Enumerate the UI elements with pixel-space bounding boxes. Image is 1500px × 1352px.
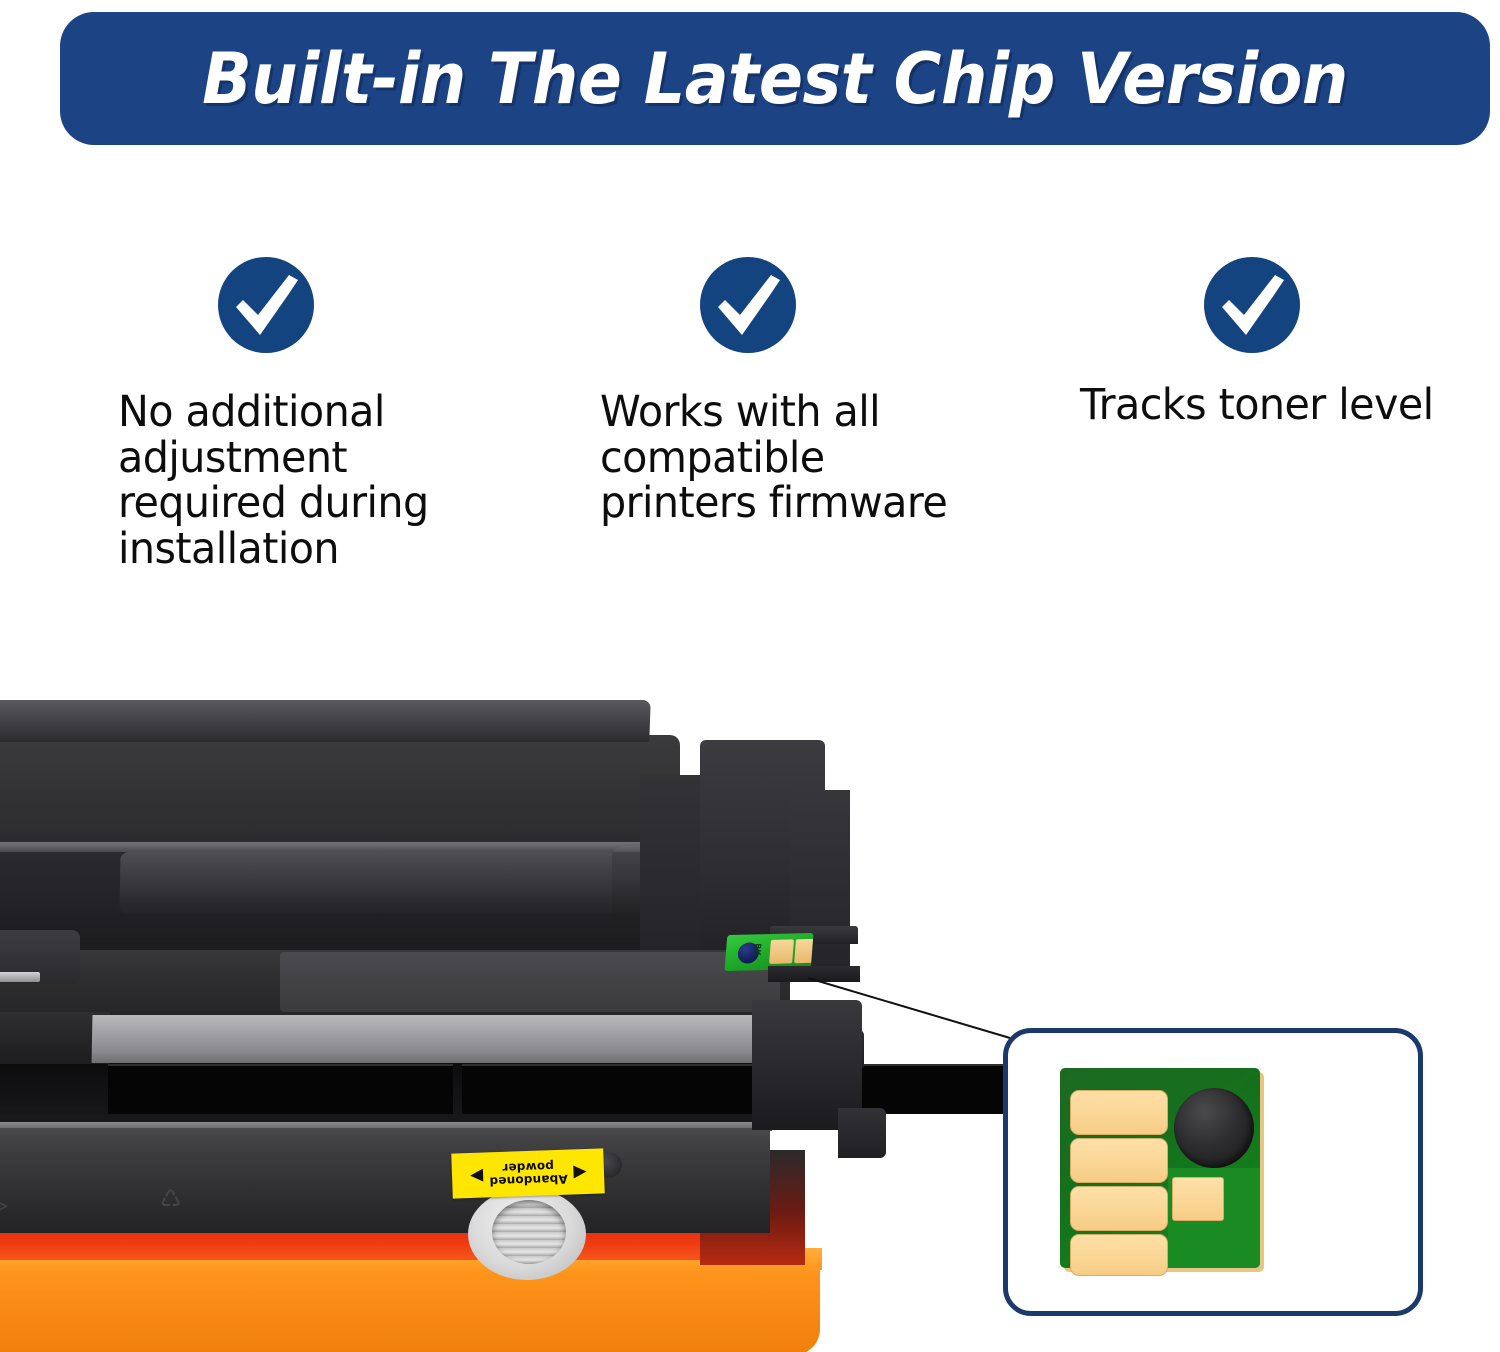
- cartridge-drum-roller: [119, 852, 680, 914]
- recycle-mark-icon: ♺: [160, 1185, 182, 1213]
- feature-item-no-adjustment: No additional adjustment required during…: [118, 255, 518, 572]
- toner-fill-port-thread: [492, 1200, 566, 1264]
- chip-closeup-contact-pad: [1070, 1138, 1168, 1183]
- header-banner: Built-in The Latest Chip Version: [60, 12, 1490, 145]
- infographic-canvas: Built-in The Latest Chip Version No addi…: [0, 0, 1500, 1352]
- check-circle-icon: [1202, 255, 1302, 355]
- abandoned-powder-label: ◀ Abandoned powder ▶: [451, 1148, 604, 1198]
- chip-closeup-contact-pad: [1070, 1090, 1168, 1135]
- feature-item-label: No additional adjustment required during…: [118, 390, 502, 572]
- cartridge-mid-panel-highlight: [280, 952, 780, 1012]
- check-circle-icon: [698, 255, 798, 355]
- cartridge-left-tab-chrome: [0, 972, 40, 982]
- feature-item-toner-level: Tracks toner level: [1080, 255, 1500, 429]
- feature-item-label: Works with all compatible printers firmw…: [600, 390, 1013, 527]
- feature-item-firmware: Works with all compatible printers firmw…: [600, 255, 1030, 527]
- chip-closeup-contact-pad: [1070, 1186, 1168, 1231]
- chip-closeup-die-icon: [1174, 1088, 1254, 1168]
- cartridge-lower-body: [0, 1128, 770, 1233]
- chip-mount-shelf-lower: [768, 966, 860, 982]
- chip-closeup-small-pad: [1172, 1177, 1224, 1221]
- chip-contact-pad: [794, 939, 813, 964]
- chip-closeup-contact-pad: [1070, 1234, 1168, 1276]
- cartridge-right-foot: [838, 1108, 886, 1158]
- cartridge-grey-rail: [92, 1015, 773, 1063]
- chip-marking-label: BK: [753, 943, 763, 956]
- cartridge-vent-slot: [108, 1064, 453, 1114]
- banner-title: Built-in The Latest Chip Version: [202, 44, 1348, 114]
- cartridge-top-rail: [0, 700, 651, 742]
- check-circle-icon: [216, 255, 316, 355]
- chip-contact-pad: [769, 939, 794, 964]
- cartridge-body-highlight: [0, 842, 660, 852]
- molding-mark-icon: ▷: [0, 1190, 8, 1220]
- label-arrow-right-icon: ▶: [469, 1167, 483, 1184]
- feature-list: No additional adjustment required during…: [0, 255, 1500, 675]
- label-arrow-left-icon: ◀: [573, 1163, 587, 1180]
- abandoned-powder-label-text: Abandoned powder: [488, 1160, 567, 1188]
- feature-item-label: Tracks toner level: [1080, 383, 1483, 429]
